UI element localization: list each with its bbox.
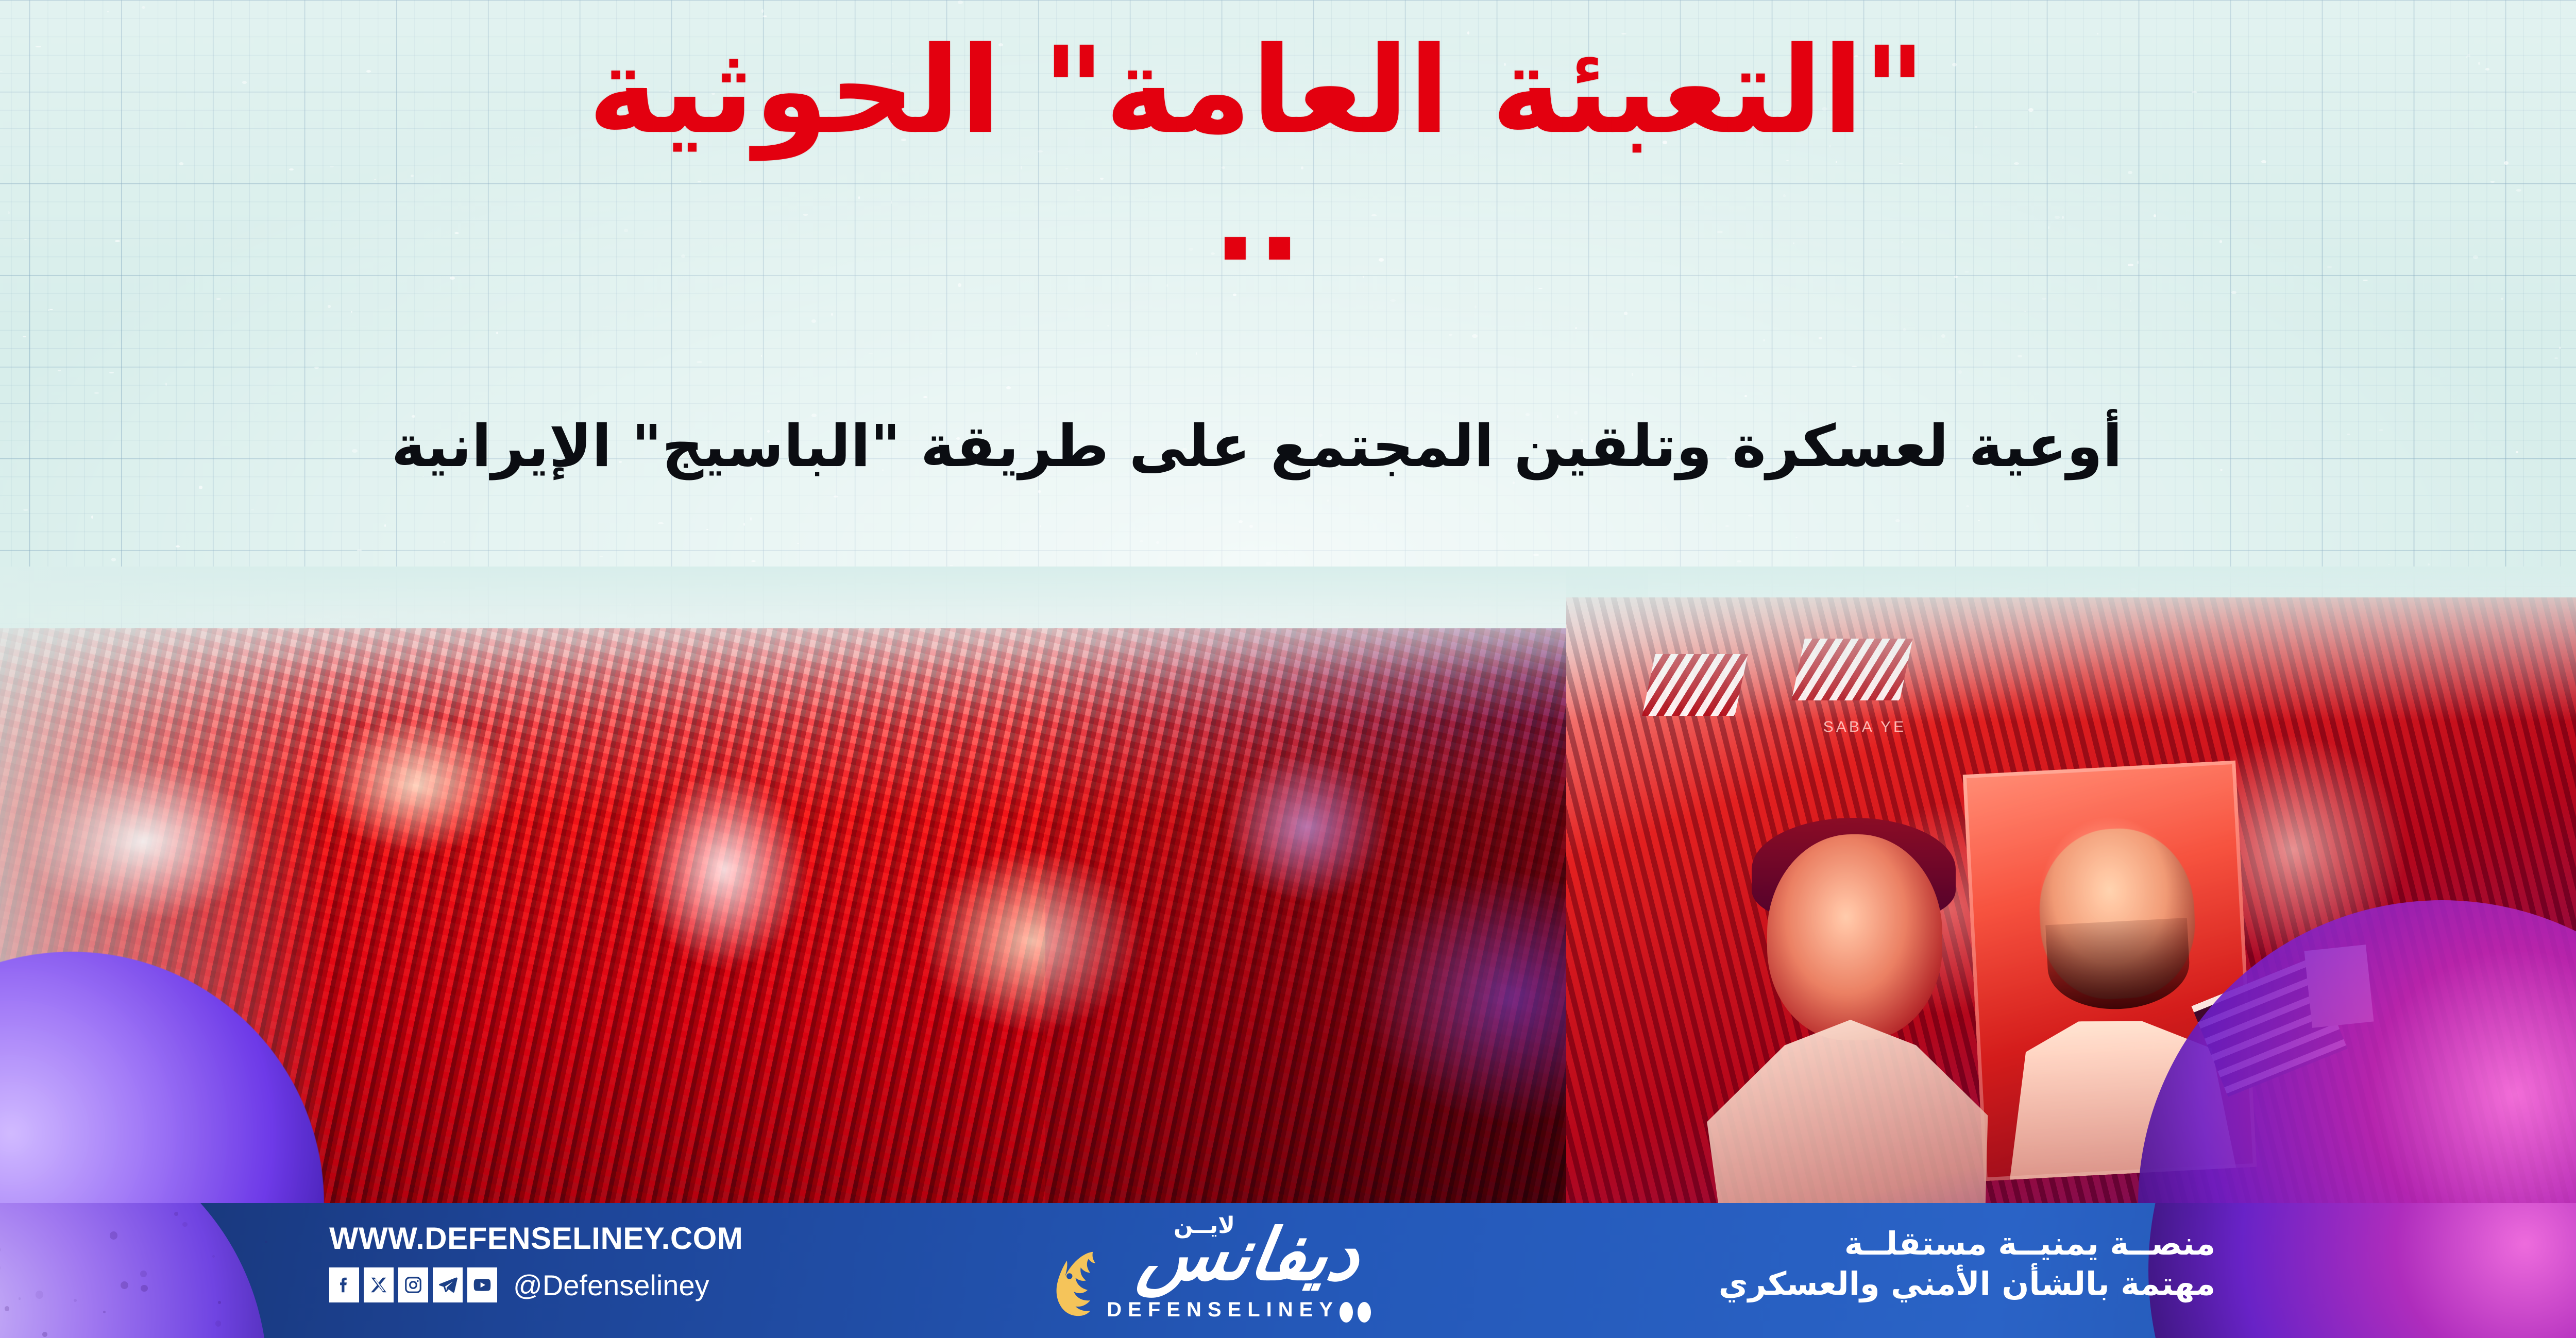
paper-speck (940, 353, 942, 354)
paper-speck (1239, 520, 1243, 523)
paper-speck (1107, 325, 1109, 327)
paper-speck (314, 367, 319, 369)
page-subtitle: أوعية لعسكرة وتلقين المجتمع على طريقة "ا… (0, 412, 2576, 481)
orb-speck (0, 1265, 1, 1271)
orb-speck (5, 1306, 10, 1311)
paper-speck (2501, 298, 2503, 300)
telegram-icon[interactable] (433, 1267, 463, 1302)
paper-speck (1538, 288, 1543, 289)
paper-speck (142, 6, 145, 9)
paper-speck (111, 558, 116, 561)
logo-arabic-main: ديفانس (1134, 1220, 1365, 1291)
poster-canvas: SABA YE "التعبئة العامة" الحوثية .. أوعي… (0, 0, 2576, 1338)
paper-speck (1266, 562, 1271, 565)
paper-speck (2428, 563, 2430, 565)
orb-speck (141, 1285, 147, 1292)
paper-speck (1958, 370, 1961, 373)
paper-speck (1040, 525, 1041, 527)
paper-speck (58, 370, 61, 371)
orb-speck (110, 1231, 117, 1239)
paper-speck (1903, 328, 1906, 331)
paper-speck (2130, 300, 2131, 302)
paper-speck (1449, 334, 1452, 336)
tagline-line-1: منصــة يمنيــة مستقلــة (1571, 1226, 2215, 1261)
paper-speck (1941, 334, 1945, 338)
orb-speck (140, 1271, 146, 1277)
orb-speck (182, 1222, 187, 1227)
paper-speck (1533, 554, 1539, 556)
paper-speck (797, 543, 799, 544)
paper-speck (444, 541, 445, 543)
x-twitter-icon[interactable] (364, 1267, 394, 1302)
paper-speck (1475, 305, 1477, 309)
paper-speck (1966, 505, 1969, 507)
paper-speck (950, 565, 953, 566)
paper-speck (1624, 312, 1628, 315)
paper-speck (1166, 284, 1168, 287)
paper-speck (1038, 490, 1041, 493)
facebook-icon[interactable] (329, 1267, 359, 1302)
paper-speck (2559, 347, 2561, 349)
footer-tagline-block: منصــة يمنيــة مستقلــة مهتمة بالشأن الأ… (1571, 1226, 2215, 1302)
paper-speck (357, 550, 362, 551)
paper-speck (1390, 299, 1396, 301)
footer-left-orb-cut (0, 1203, 267, 1338)
paper-speck (109, 372, 114, 373)
paper-speck (1819, 337, 1822, 339)
paper-speck (1632, 373, 1633, 376)
social-handle[interactable]: @Defenseliney (513, 1268, 709, 1302)
paper-speck (1795, 537, 1798, 539)
paper-speck (1748, 514, 1753, 516)
paper-speck (750, 517, 752, 521)
paper-speck (658, 522, 663, 525)
paper-speck (2388, 564, 2389, 565)
orb-speck (19, 1297, 21, 1300)
paper-speck (1472, 334, 1477, 338)
paper-speck (697, 361, 702, 363)
paper-speck (1513, 482, 1515, 484)
paper-speck (1233, 294, 1236, 297)
paper-speck (600, 556, 603, 557)
paper-speck (1895, 519, 1900, 522)
paper-speck (23, 336, 26, 337)
left-photo-top-fade (1566, 567, 2576, 721)
headline-line-2: .. (20, 155, 2494, 282)
orb-speck (215, 1320, 222, 1327)
paper-speck (2024, 311, 2026, 312)
paper-speck (1006, 386, 1011, 389)
paper-speck (1249, 525, 1253, 528)
paper-speck (869, 353, 874, 354)
orb-speck (103, 1311, 106, 1313)
paper-speck (351, 311, 352, 313)
brand-logo[interactable]: لايــن ديفانس DEFENSELINEY (1014, 1216, 1437, 1325)
paper-speck (1327, 500, 1329, 502)
headline-line-1: "التعبئة العامة" الحوثية (20, 27, 2494, 155)
orb-speck (0, 1246, 1, 1253)
paper-speck (91, 516, 93, 519)
portrait-beard (2045, 918, 2192, 1013)
paper-speck (176, 545, 180, 547)
saba-photo-credit: SABA YE (1823, 718, 1906, 736)
paper-speck (216, 298, 221, 300)
paper-speck (2018, 355, 2022, 357)
paper-speck (1725, 525, 1729, 527)
paper-speck (958, 283, 961, 287)
orb-speck (74, 1299, 77, 1302)
paper-speck (958, 1, 963, 4)
paper-speck (761, 9, 764, 12)
paper-speck (2554, 357, 2558, 359)
logo-latin-text: DEFENSELINEY (1107, 1298, 1339, 1322)
paper-speck (762, 15, 767, 17)
paper-speck (328, 305, 330, 308)
falcon-icon (1018, 1238, 1104, 1325)
social-links-row: @Defenseliney (329, 1267, 896, 1302)
footer-contact-block: WWW.DEFENSELINEY.COM @Defenseliney (329, 1221, 896, 1302)
paper-speck (831, 313, 833, 316)
paper-speck (251, 509, 254, 510)
paper-speck (1737, 560, 1741, 562)
footer-bar: WWW.DEFENSELINEY.COM @Defenseliney (0, 1203, 2576, 1338)
orb-speck (212, 1255, 215, 1258)
paper-speck (199, 486, 202, 489)
paper-speck (751, 560, 756, 562)
paper-speck (1764, 339, 1765, 341)
orb-speck (218, 1301, 221, 1304)
orb-speck (42, 1332, 47, 1337)
paper-speck (2042, 298, 2046, 300)
page-title: "التعبئة العامة" الحوثية .. (0, 27, 2576, 282)
paper-speck (1978, 520, 1979, 521)
paper-speck (923, 396, 927, 398)
paper-speck (165, 383, 167, 386)
paper-speck (706, 529, 708, 530)
paper-speck (496, 332, 498, 334)
paper-speck (94, 392, 99, 394)
paper-speck (107, 11, 109, 12)
paper-speck (1575, 327, 1578, 330)
paper-speck (23, 509, 28, 511)
boy-head (1767, 834, 1942, 1040)
paper-speck (2231, 291, 2236, 294)
paper-speck (1156, 541, 1159, 544)
paper-speck (811, 319, 816, 323)
paper-speck (1196, 352, 1197, 355)
paper-speck (1140, 540, 1143, 542)
paper-speck (761, 355, 762, 356)
paper-speck (1852, 366, 1857, 367)
orb-speck (36, 1291, 44, 1299)
paper-speck (1744, 395, 1747, 397)
paper-speck (834, 495, 838, 497)
orb-speck (265, 1241, 267, 1243)
instagram-icon[interactable] (398, 1267, 428, 1302)
tagline-line-2: مهتمة بالشأن الأمني والعسكري (1571, 1265, 2215, 1302)
orb-speck (121, 1281, 128, 1289)
paper-speck (49, 309, 53, 310)
website-url[interactable]: WWW.DEFENSELINEY.COM (329, 1221, 896, 1256)
logo-dots (1340, 1302, 1371, 1323)
paper-speck (743, 523, 745, 526)
orb-speck (174, 1212, 178, 1216)
paper-speck (384, 524, 386, 527)
youtube-icon[interactable] (467, 1267, 497, 1302)
